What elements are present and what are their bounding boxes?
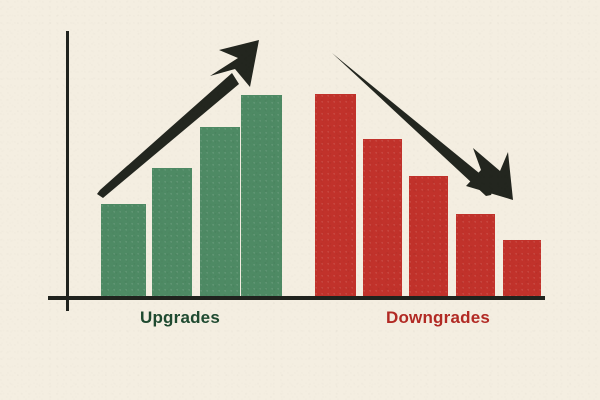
bar-chart-figure: Upgrades Downgrades [0, 0, 600, 400]
y-axis-line [66, 31, 69, 311]
axis-label-upgrades: Upgrades [120, 308, 240, 328]
bar-upgrades-3 [200, 127, 240, 296]
bar-texture [503, 240, 541, 296]
bar-texture [456, 214, 495, 296]
bar-texture [152, 168, 192, 296]
up-trend-arrow [0, 0, 600, 400]
bar-upgrades-4 [241, 95, 282, 296]
axis-label-downgrades: Downgrades [368, 308, 508, 328]
bar-upgrades-2 [152, 168, 192, 296]
bar-texture [101, 204, 146, 296]
bar-upgrades-1 [101, 204, 146, 296]
bar-downgrades-2 [363, 139, 402, 296]
down-trend-arrow [0, 0, 600, 400]
bar-texture [363, 139, 402, 296]
bar-texture [315, 94, 356, 296]
bar-texture [241, 95, 282, 296]
bar-downgrades-3 [409, 176, 448, 296]
bar-texture [200, 127, 240, 296]
bar-downgrades-5 [503, 240, 541, 296]
bar-downgrades-4 [456, 214, 495, 296]
x-axis-line [48, 296, 545, 300]
bar-texture [409, 176, 448, 296]
bar-downgrades-1 [315, 94, 356, 296]
plot-area [0, 0, 600, 400]
